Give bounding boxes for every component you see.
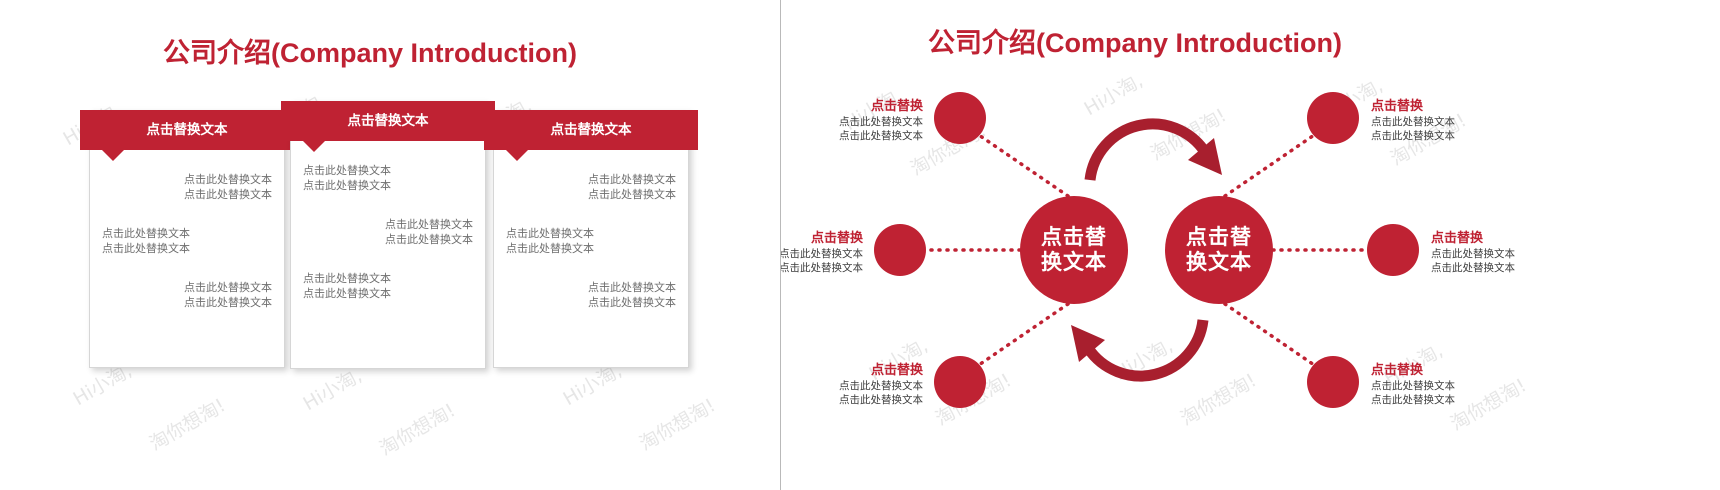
card-text-line: 点击此处替换文本 xyxy=(102,172,272,187)
connector-line xyxy=(1225,304,1320,369)
hub-left-line2: 换文本 xyxy=(1040,250,1107,275)
hub-right-line2: 换文本 xyxy=(1185,250,1252,275)
card-text-block: 点击此处替换文本 点击此处替换文本 xyxy=(303,217,473,247)
card-text-line: 点击此处替换文本 xyxy=(102,241,272,256)
card-text-line: 点击此处替换文本 xyxy=(303,286,473,301)
card-text-line: 点击此处替换文本 xyxy=(102,226,272,241)
circle-diagram: 点击替 换文本 点击替 换文本 点击替换 点击此处替换文本 点击此 xyxy=(781,0,1720,490)
node-circle-bottom-left[interactable] xyxy=(934,356,986,408)
card-header: 点击替换文本 xyxy=(80,110,294,150)
node-circle-top-left[interactable] xyxy=(934,92,986,144)
screenshot-root: 公司介绍(Company Introduction) Hi小淘, 淘你想淘! H… xyxy=(0,0,1720,490)
node-label-title: 点击替换 xyxy=(781,361,923,379)
node-label-line: 点击此处替换文本 xyxy=(781,115,923,129)
watermark: 淘你想淘! xyxy=(144,391,230,456)
slide-company-intro-cards: 公司介绍(Company Introduction) Hi小淘, 淘你想淘! H… xyxy=(0,0,780,490)
hub-right-line1: 点击替 xyxy=(1185,225,1252,250)
card-header-label: 点击替换文本 xyxy=(551,122,632,137)
page-title: 公司介绍(Company Introduction) xyxy=(163,31,577,70)
connector-line xyxy=(973,131,1068,196)
hub-circle-left[interactable]: 点击替 换文本 xyxy=(1020,196,1128,304)
node-label-title: 点击替换 xyxy=(781,229,863,247)
node-label-bottom-left: 点击替换 点击此处替换文本 点击此处替换文本 xyxy=(781,361,923,407)
node-label-line: 点击此处替换文本 xyxy=(1371,393,1551,407)
card-header-label: 点击替换文本 xyxy=(147,122,228,137)
pointer-notch-icon xyxy=(102,150,124,161)
card-header: 点击替换文本 xyxy=(484,110,698,150)
node-label-top-right: 点击替换 点击此处替换文本 点击此处替换文本 xyxy=(1371,97,1551,143)
card-text-line: 点击此处替换文本 xyxy=(506,172,676,187)
card-text-block: 点击此处替换文本 点击此处替换文本 xyxy=(303,271,473,301)
info-card[interactable]: 点击替换文本 点击此处替换文本 点击此处替换文本 点击此处替换文本 点击此处替换… xyxy=(290,101,486,369)
hub-left-line1: 点击替 xyxy=(1040,225,1107,250)
node-circle-mid-left[interactable] xyxy=(874,224,926,276)
card-text-line: 点击此处替换文本 xyxy=(506,241,676,256)
connector-line xyxy=(1225,131,1320,196)
card-text-block: 点击此处替换文本 点击此处替换文本 xyxy=(303,163,473,193)
card-text-line: 点击此处替换文本 xyxy=(506,187,676,202)
node-label-line: 点击此处替换文本 xyxy=(781,129,923,143)
info-card[interactable]: 点击替换文本 点击此处替换文本 点击此处替换文本 点击此处替换文本 点击此处替换… xyxy=(89,110,285,368)
card-header-label: 点击替换文本 xyxy=(348,113,429,128)
card-text-block: 点击此处替换文本 点击此处替换文本 xyxy=(102,280,272,310)
node-circle-mid-right[interactable] xyxy=(1367,224,1419,276)
card-text-block: 点击此处替换文本 点击此处替换文本 xyxy=(506,280,676,310)
node-label-line: 点击此处替换文本 xyxy=(1371,129,1551,143)
node-label-bottom-right: 点击替换 点击此处替换文本 点击此处替换文本 xyxy=(1371,361,1551,407)
card-body: 点击此处替换文本 点击此处替换文本 点击此处替换文本 点击此处替换文本 点击此处… xyxy=(494,150,688,328)
cycle-arrow-top-icon xyxy=(1090,124,1222,180)
card-text-line: 点击此处替换文本 xyxy=(102,295,272,310)
card-text-line: 点击此处替换文本 xyxy=(303,217,473,232)
node-label-title: 点击替换 xyxy=(1431,229,1611,247)
node-label-title: 点击替换 xyxy=(1371,97,1551,115)
card-text-line: 点击此处替换文本 xyxy=(506,280,676,295)
card-text-line: 点击此处替换文本 xyxy=(303,271,473,286)
node-label-mid-right: 点击替换 点击此处替换文本 点击此处替换文本 xyxy=(1431,229,1611,275)
card-header: 点击替换文本 xyxy=(281,101,495,141)
node-label-mid-left: 点击替换 点击此处替换文本 点击此处替换文本 xyxy=(781,229,863,275)
slide-company-intro-diagram: 公司介绍(Company Introduction) Hi小淘, 淘你想淘! H… xyxy=(781,0,1720,490)
node-label-title: 点击替换 xyxy=(781,97,923,115)
card-text-line: 点击此处替换文本 xyxy=(303,163,473,178)
card-text-line: 点击此处替换文本 xyxy=(102,280,272,295)
node-label-line: 点击此处替换文本 xyxy=(1371,379,1551,393)
node-circle-top-right[interactable] xyxy=(1307,92,1359,144)
card-text-line: 点击此处替换文本 xyxy=(506,295,676,310)
watermark: Hi小淘, xyxy=(298,361,367,416)
node-label-line: 点击此处替换文本 xyxy=(1371,115,1551,129)
info-card[interactable]: 点击替换文本 点击此处替换文本 点击此处替换文本 点击此处替换文本 点击此处替换… xyxy=(493,110,689,368)
card-text-block: 点击此处替换文本 点击此处替换文本 xyxy=(506,172,676,202)
card-text-line: 点击此处替换文本 xyxy=(303,232,473,247)
card-body: 点击此处替换文本 点击此处替换文本 点击此处替换文本 点击此处替换文本 点击此处… xyxy=(90,150,284,328)
pointer-notch-icon xyxy=(303,141,325,152)
node-circle-bottom-right[interactable] xyxy=(1307,356,1359,408)
connector-line xyxy=(973,304,1068,369)
watermark: 淘你想淘! xyxy=(634,391,720,456)
card-text-block: 点击此处替换文本 点击此处替换文本 xyxy=(506,226,676,256)
node-label-title: 点击替换 xyxy=(1371,361,1551,379)
card-text-block: 点击此处替换文本 点击此处替换文本 xyxy=(102,172,272,202)
cycle-arrow-bottom-icon xyxy=(1071,320,1203,376)
node-label-line: 点击此处替换文本 xyxy=(781,393,923,407)
hub-circle-right[interactable]: 点击替 换文本 xyxy=(1165,196,1273,304)
node-label-line: 点击此处替换文本 xyxy=(781,261,863,275)
card-body: 点击此处替换文本 点击此处替换文本 点击此处替换文本 点击此处替换文本 点击此处… xyxy=(291,141,485,319)
node-label-line: 点击此处替换文本 xyxy=(1431,261,1611,275)
node-label-top-left: 点击替换 点击此处替换文本 点击此处替换文本 xyxy=(781,97,923,143)
pointer-notch-icon xyxy=(506,150,528,161)
node-label-line: 点击此处替换文本 xyxy=(1431,247,1611,261)
card-text-line: 点击此处替换文本 xyxy=(303,178,473,193)
node-label-line: 点击此处替换文本 xyxy=(781,379,923,393)
node-label-line: 点击此处替换文本 xyxy=(781,247,863,261)
watermark: 淘你想淘! xyxy=(374,396,460,461)
card-text-line: 点击此处替换文本 xyxy=(506,226,676,241)
card-text-line: 点击此处替换文本 xyxy=(102,187,272,202)
card-text-block: 点击此处替换文本 点击此处替换文本 xyxy=(102,226,272,256)
